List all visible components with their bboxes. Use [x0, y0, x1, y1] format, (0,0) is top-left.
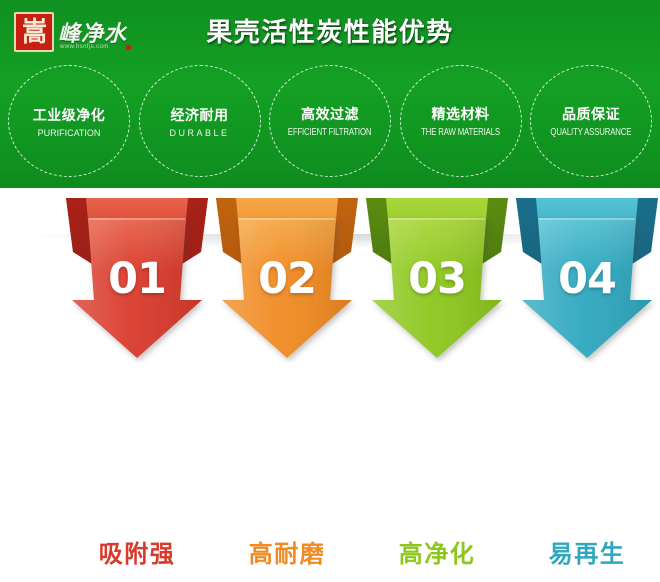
arrow-shape [362, 192, 512, 362]
arrow-caption-03: 高净化 [362, 534, 512, 569]
feature-label-cn: 精选材料 [432, 104, 490, 124]
feature-bubble-efficient-filtration: 高效过滤 EFFICIENT FILTRATION [269, 65, 391, 177]
feature-label-cn: 高效过滤 [301, 104, 359, 124]
arrow-step-02[interactable]: 02 [212, 192, 362, 362]
caption-list: 吸附强高耐磨高净化易再生 [0, 534, 660, 582]
header-band: 嵩 峰净水 www.hsnfjs.com 果壳活性炭性能优势 工业级净化 PUR… [0, 0, 660, 188]
feature-label-cn: 品质保证 [562, 104, 620, 124]
feature-bubble-quality-assurance: 品质保证 QUALITY ASSURANCE [530, 65, 652, 177]
arrow-shape [512, 192, 660, 362]
arrow-step-04[interactable]: 04 [512, 192, 660, 362]
arrow-shape [62, 192, 212, 362]
arrow-caption-02: 高耐磨 [212, 534, 362, 569]
arrow-step-03[interactable]: 03 [362, 192, 512, 362]
arrow-shape [212, 192, 362, 362]
arrow-list: 01020304 [0, 188, 660, 400]
feature-bubble-list: 工业级净化 PURIFICATION 经济耐用 DURABLE 高效过滤 EFF… [8, 62, 652, 180]
arrow-caption-01: 吸附强 [62, 534, 212, 569]
feature-label-en: QUALITY ASSURANCE [551, 127, 632, 138]
feature-label-cn: 经济耐用 [171, 105, 229, 125]
steps-section: 01020304 吸附强高耐磨高净化易再生 [0, 188, 660, 400]
feature-label-en: EFFICIENT FILTRATION [288, 127, 372, 138]
arrow-caption-04: 易再生 [512, 534, 660, 569]
feature-label-en: THE RAW MATERIALS [421, 127, 500, 138]
feature-bubble-durable: 经济耐用 DURABLE [139, 65, 261, 177]
feature-bubble-purification: 工业级净化 PURIFICATION [8, 65, 130, 177]
feature-label-en: PURIFICATION [38, 128, 101, 138]
feature-label-en: DURABLE [169, 128, 229, 138]
arrow-step-01[interactable]: 01 [62, 192, 212, 362]
page-title: 果壳活性炭性能优势 [0, 12, 660, 49]
feature-label-cn: 工业级净化 [33, 105, 106, 125]
feature-bubble-raw-materials: 精选材料 THE RAW MATERIALS [400, 65, 522, 177]
